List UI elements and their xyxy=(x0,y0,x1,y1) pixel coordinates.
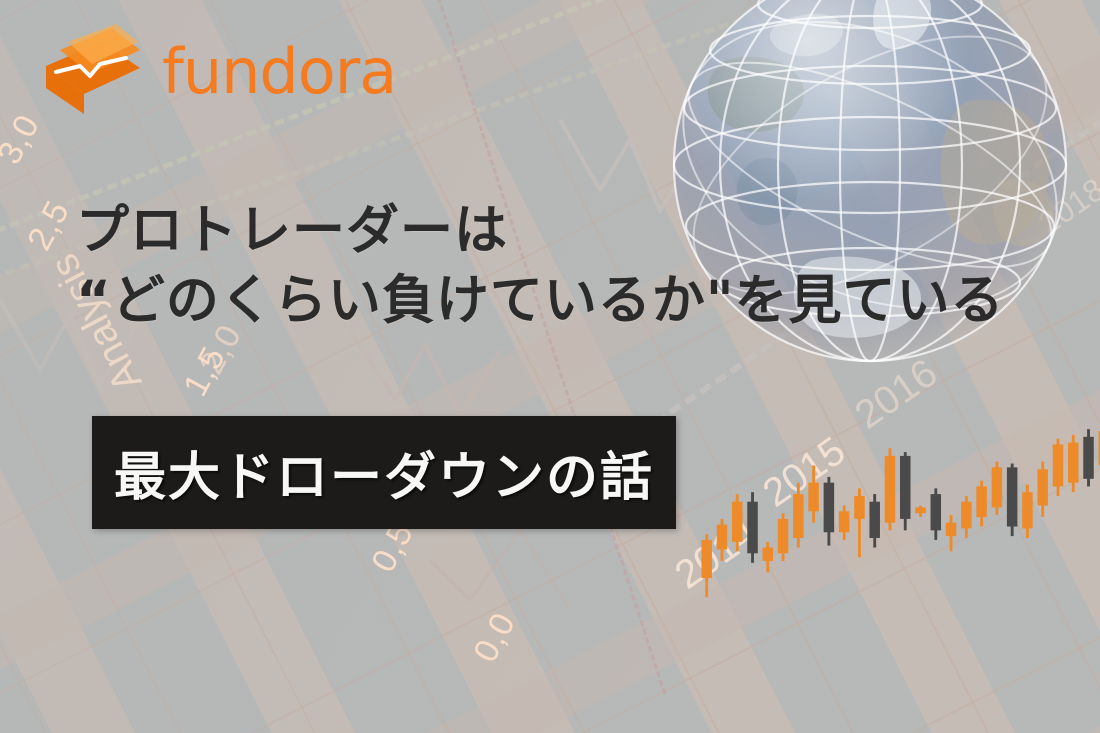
fundora-logo-mark-icon xyxy=(40,24,148,116)
brand-logo[interactable]: fundora xyxy=(40,24,396,116)
headline-line-2: “どのくらい負けているか"を見ている xyxy=(76,266,1004,336)
headline-line-1: プロトレーダーは xyxy=(76,196,1004,266)
page-title: プロトレーダーは “どのくらい負けているか"を見ている xyxy=(76,196,1004,336)
hero-banner-image: 3,0 2,5 2,0 1,5 0,5 0,0 Analysis 2014 20… xyxy=(0,0,1100,733)
brand-wordmark: fundora xyxy=(162,41,396,103)
candlestick-chart xyxy=(690,420,1100,733)
subtitle-banner: 最大ドローダウンの話 xyxy=(92,416,676,529)
subtitle-banner-label: 最大ドローダウンの話 xyxy=(114,435,654,510)
